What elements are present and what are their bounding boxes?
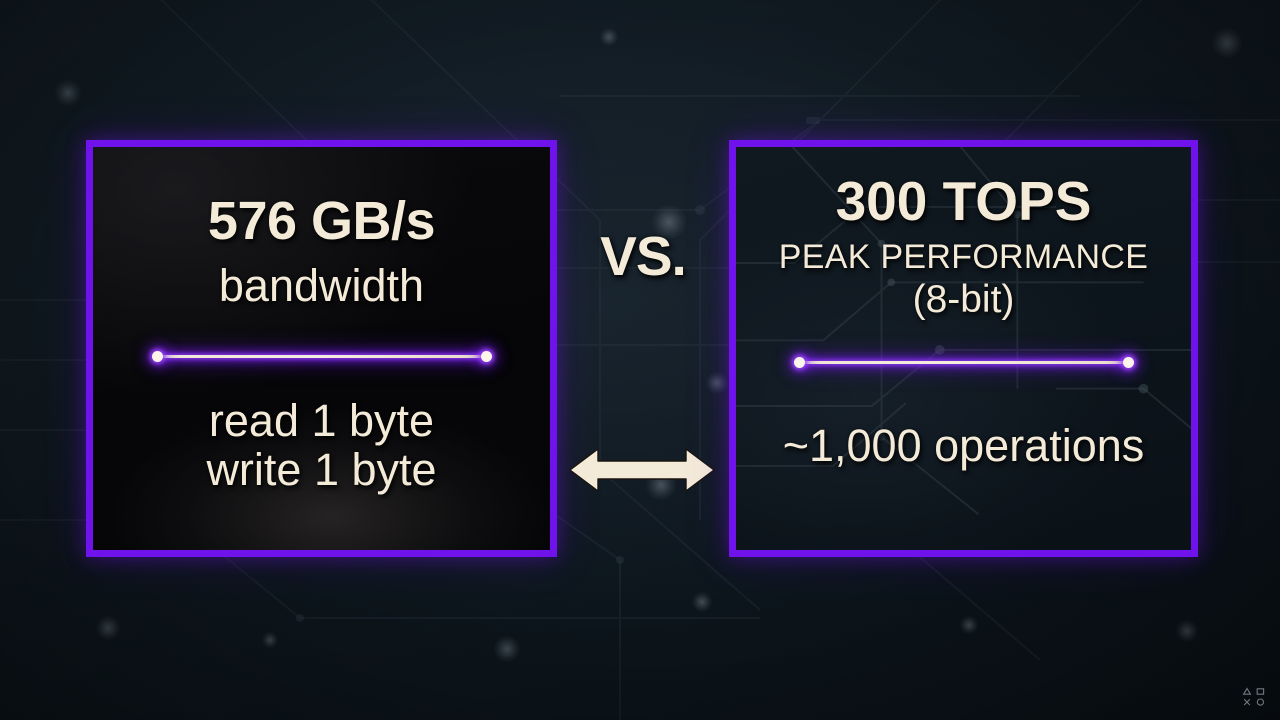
divider-dot-right-icon: [1123, 357, 1134, 368]
divider-dot-left-icon: [794, 357, 805, 368]
left-panel-subline: bandwidth: [219, 262, 424, 310]
left-panel-divider: [152, 350, 492, 364]
left-panel-headline: 576 GB/s: [208, 194, 435, 248]
right-panel-headline: 300 TOPS: [836, 174, 1092, 229]
divider-line: [798, 361, 1130, 364]
left-comparison-panel: 576 GB/s bandwidth read 1 byte write 1 b…: [86, 140, 557, 557]
versus-label: VS.: [557, 224, 729, 288]
left-panel-footline: read 1 byte write 1 byte: [206, 396, 436, 495]
right-panel-footline: ~1,000 operations: [783, 421, 1145, 471]
left-panel-footline-line-2: write 1 byte: [206, 445, 436, 495]
slide-stage: 576 GB/s bandwidth read 1 byte write 1 b…: [0, 0, 1280, 720]
divider-line: [156, 355, 488, 358]
divider-dot-right-icon: [481, 351, 492, 362]
double-headed-arrow-icon: [568, 447, 716, 493]
right-comparison-panel: 300 TOPS PEAK PERFORMANCE (8-bit) ~1,000…: [729, 140, 1198, 557]
divider-dot-left-icon: [152, 351, 163, 362]
right-panel-divider: [794, 355, 1134, 369]
gamepad-face-buttons-icon: [1242, 686, 1268, 708]
right-panel-sub-caps: PEAK PERFORMANCE: [779, 239, 1148, 275]
left-panel-footline-line-1: read 1 byte: [206, 396, 436, 446]
right-panel-sub-paren: (8-bit): [913, 279, 1015, 320]
